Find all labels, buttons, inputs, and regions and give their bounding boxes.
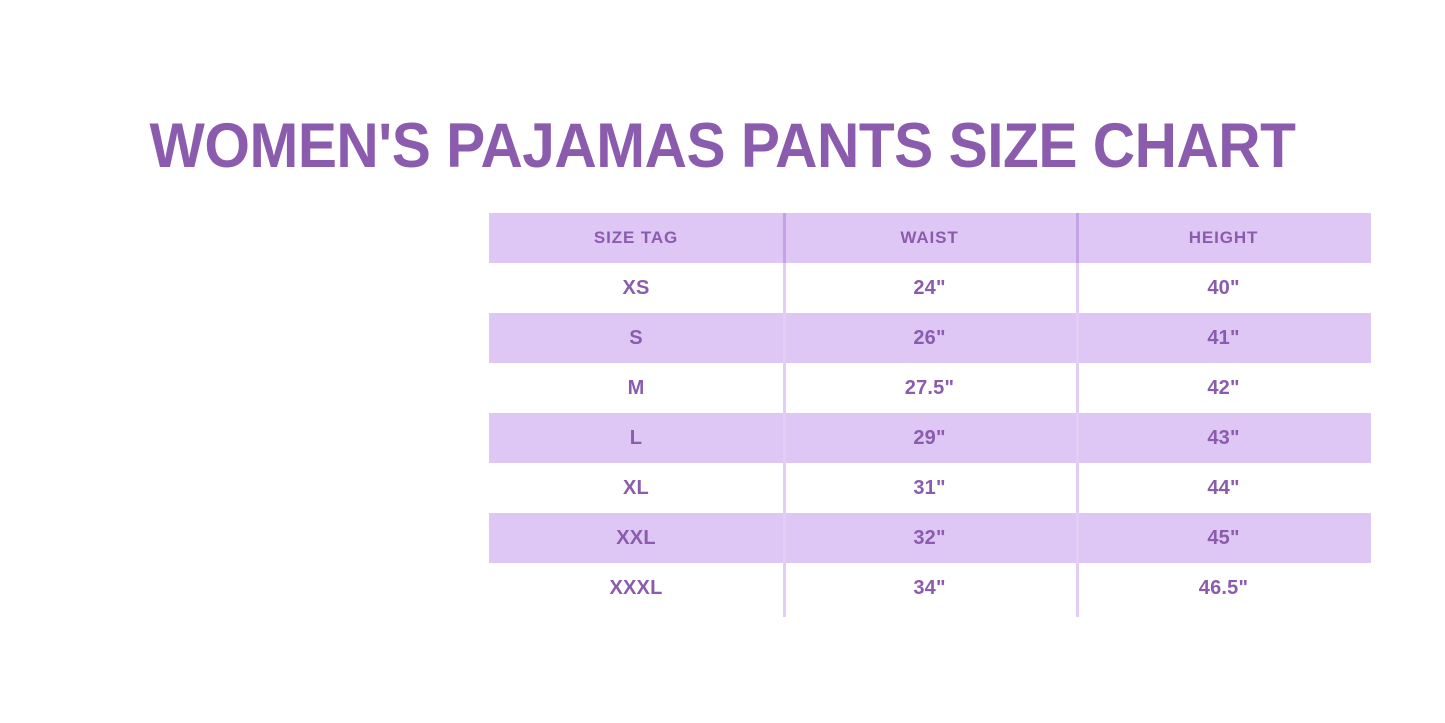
- cell-height: 42": [1076, 363, 1371, 413]
- cell-waist: 31": [783, 463, 1076, 513]
- size-chart-table: SIZE TAG WAIST HEIGHT XS 24" 40" S 26" 4…: [489, 213, 1371, 613]
- cell-waist: 26": [783, 313, 1076, 363]
- cell-height: 43": [1076, 413, 1371, 463]
- page-title: WOMEN'S PAJAMAS PANTS SIZE CHART: [51, 110, 1395, 182]
- table-row: XXXL 34" 46.5": [489, 563, 1371, 613]
- table-row: XL 31" 44": [489, 463, 1371, 513]
- table-header: SIZE TAG WAIST HEIGHT: [489, 213, 1371, 263]
- table-header-row: SIZE TAG WAIST HEIGHT: [489, 213, 1371, 263]
- table-row: L 29" 43": [489, 413, 1371, 463]
- table-row: S 26" 41": [489, 313, 1371, 363]
- table-row: XXL 32" 45": [489, 513, 1371, 563]
- cell-waist: 32": [783, 513, 1076, 563]
- column-header-height: HEIGHT: [1076, 213, 1371, 263]
- cell-height: 41": [1076, 313, 1371, 363]
- cell-size-tag: S: [489, 313, 783, 363]
- column-header-waist: WAIST: [783, 213, 1076, 263]
- size-chart-table-container: SIZE TAG WAIST HEIGHT XS 24" 40" S 26" 4…: [489, 213, 1371, 613]
- cell-waist: 27.5": [783, 363, 1076, 413]
- cell-size-tag: XXL: [489, 513, 783, 563]
- cell-height: 40": [1076, 263, 1371, 313]
- cell-waist: 24": [783, 263, 1076, 313]
- cell-height: 46.5": [1076, 563, 1371, 613]
- column-divider-size-waist: [783, 213, 786, 617]
- cell-size-tag: XS: [489, 263, 783, 313]
- cell-size-tag: XL: [489, 463, 783, 513]
- cell-height: 44": [1076, 463, 1371, 513]
- column-divider-waist-height: [1076, 213, 1079, 617]
- table-body: XS 24" 40" S 26" 41" M 27.5" 42" L 29": [489, 263, 1371, 613]
- size-chart-page: WOMEN'S PAJAMAS PANTS SIZE CHART SIZE TA…: [0, 0, 1445, 723]
- table-row: M 27.5" 42": [489, 363, 1371, 413]
- cell-size-tag: XXXL: [489, 563, 783, 613]
- table-row: XS 24" 40": [489, 263, 1371, 313]
- cell-waist: 34": [783, 563, 1076, 613]
- cell-waist: 29": [783, 413, 1076, 463]
- cell-height: 45": [1076, 513, 1371, 563]
- cell-size-tag: M: [489, 363, 783, 413]
- cell-size-tag: L: [489, 413, 783, 463]
- column-header-size-tag: SIZE TAG: [489, 213, 783, 263]
